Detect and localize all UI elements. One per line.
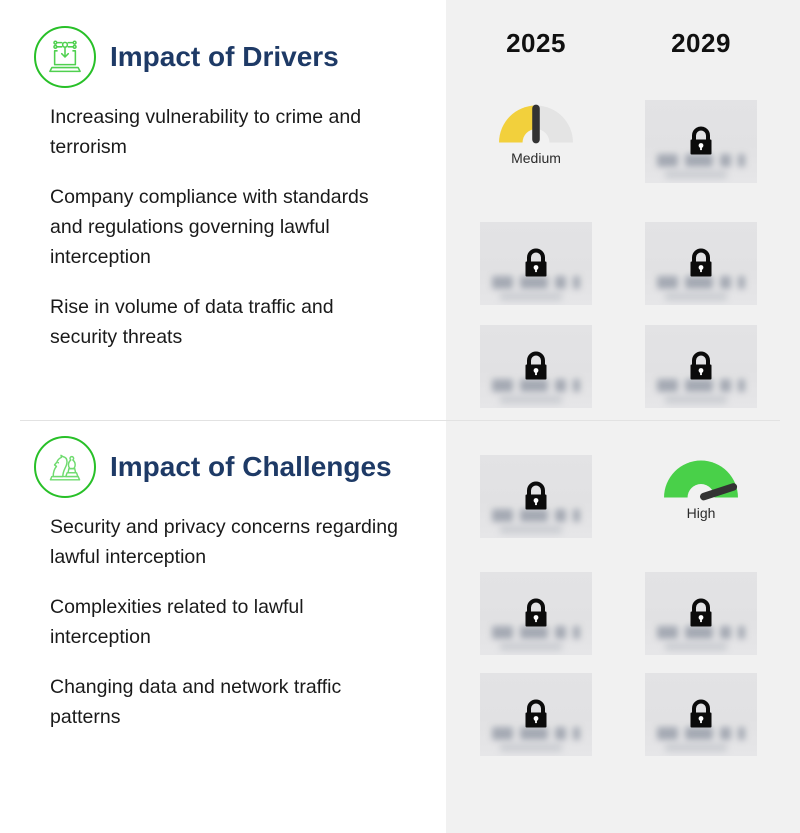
value-cell-drivers-3-2029 xyxy=(645,325,757,408)
value-cell-challenges-1-2025 xyxy=(480,455,592,538)
section-challenges-header: Impact of Challenges xyxy=(0,432,446,502)
lock-icon xyxy=(521,698,551,732)
challenge-item-2: Complexities related to lawful intercept… xyxy=(50,592,400,652)
value-cell-drivers-3-2025 xyxy=(480,325,592,408)
blurred-text-secondary xyxy=(665,292,727,301)
challenge-item-3: Changing data and network traffic patter… xyxy=(50,672,400,732)
lock-icon xyxy=(521,350,551,384)
section-divider xyxy=(20,420,780,421)
driver-item-1: Increasing vulnerability to crime and te… xyxy=(50,102,400,162)
gauge-label-high: High xyxy=(687,505,716,521)
lock-icon xyxy=(686,698,716,732)
gauge-dial xyxy=(659,455,743,503)
value-cell-drivers-1-2029 xyxy=(645,100,757,183)
blurred-text-secondary xyxy=(665,170,727,179)
section-challenges-title: Impact of Challenges xyxy=(110,451,392,483)
lock-icon xyxy=(686,597,716,631)
driver-item-2: Company compliance with standards and re… xyxy=(50,182,400,272)
gauge-high-2029: High xyxy=(645,455,757,538)
column-header-2029: 2029 xyxy=(645,28,757,59)
blurred-text-secondary xyxy=(500,292,562,301)
value-cell-challenges-1-2029: High xyxy=(645,455,757,538)
blurred-text-secondary xyxy=(500,525,562,534)
lock-icon xyxy=(686,247,716,281)
value-cell-drivers-1-2025: Medium xyxy=(480,100,592,183)
blurred-text-secondary xyxy=(500,743,562,752)
lock-icon xyxy=(521,247,551,281)
driver-item-3: Rise in volume of data traffic and secur… xyxy=(50,292,400,352)
value-cell-challenges-3-2029 xyxy=(645,673,757,756)
lock-icon xyxy=(686,125,716,159)
gauge-label-medium: Medium xyxy=(511,150,561,166)
blurred-text-secondary xyxy=(665,743,727,752)
value-cell-challenges-3-2025 xyxy=(480,673,592,756)
lock-icon xyxy=(521,597,551,631)
laptop-network-download-icon xyxy=(34,26,96,88)
section-drivers-title: Impact of Drivers xyxy=(110,41,339,73)
section-drivers: Impact of Drivers Increasing vulnerabili… xyxy=(0,22,446,372)
section-challenges: Impact of Challenges Security and privac… xyxy=(0,432,446,752)
value-cell-drivers-2-2029 xyxy=(645,222,757,305)
value-cell-challenges-2-2029 xyxy=(645,572,757,655)
section-drivers-bullets: Increasing vulnerability to crime and te… xyxy=(0,102,446,352)
challenge-item-1: Security and privacy concerns regarding … xyxy=(50,512,400,572)
section-drivers-header: Impact of Drivers xyxy=(0,22,446,92)
gauge-medium-2025: Medium xyxy=(480,100,592,183)
value-cell-challenges-2-2025 xyxy=(480,572,592,655)
blurred-text-secondary xyxy=(500,395,562,404)
blurred-text-secondary xyxy=(665,395,727,404)
section-challenges-bullets: Security and privacy concerns regarding … xyxy=(0,512,446,732)
column-header-2025: 2025 xyxy=(480,28,592,59)
blurred-text-secondary xyxy=(665,642,727,651)
blurred-text-secondary xyxy=(500,642,562,651)
lock-icon xyxy=(521,480,551,514)
lock-icon xyxy=(686,350,716,384)
chess-pieces-icon xyxy=(34,436,96,498)
gauge-dial xyxy=(494,100,578,148)
value-cell-drivers-2-2025 xyxy=(480,222,592,305)
